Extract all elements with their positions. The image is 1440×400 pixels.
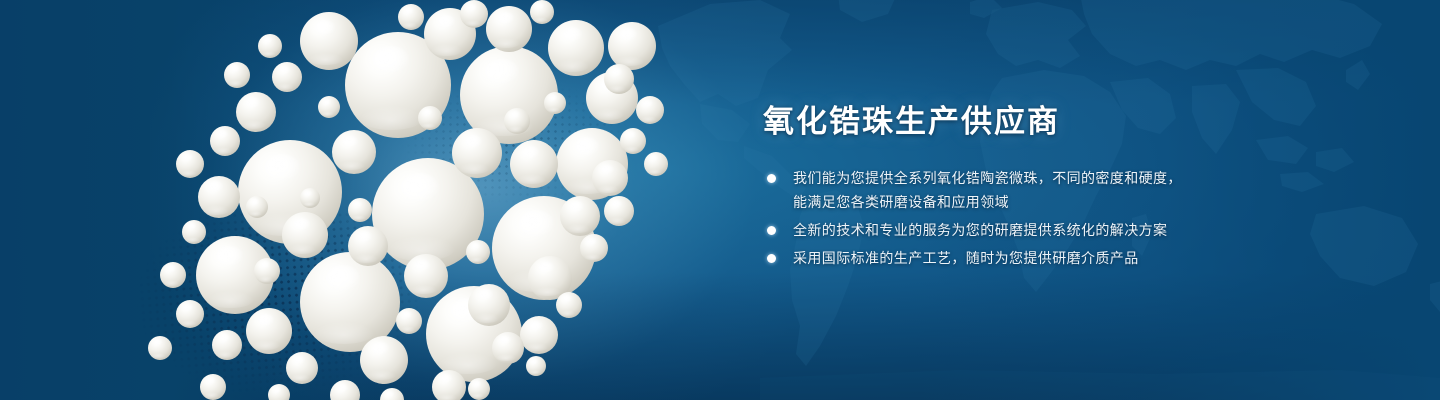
banner-bullet-list: 我们能为您提供全系列氧化锆陶瓷微珠，不同的密度和硬度， 能满足您各类研磨设备和应… <box>763 166 1403 270</box>
banner-headline: 氧化锆珠生产供应商 <box>763 104 1403 141</box>
list-item: 我们能为您提供全系列氧化锆陶瓷微珠，不同的密度和硬度， 能满足您各类研磨设备和应… <box>763 166 1403 214</box>
bullet-dot-icon <box>767 174 776 183</box>
bullet-dot-icon <box>767 226 776 235</box>
hero-banner: 氧化锆珠生产供应商 我们能为您提供全系列氧化锆陶瓷微珠，不同的密度和硬度， 能满… <box>0 0 1440 400</box>
banner-copy: 氧化锆珠生产供应商 我们能为您提供全系列氧化锆陶瓷微珠，不同的密度和硬度， 能满… <box>763 104 1403 274</box>
bullet-line-1: 采用国际标准的生产工艺，随时为您提供研磨介质产品 <box>793 250 1139 266</box>
list-item: 全新的技术和专业的服务为您的研磨提供系统化的解决方案 <box>763 218 1403 242</box>
list-item: 采用国际标准的生产工艺，随时为您提供研磨介质产品 <box>763 246 1403 270</box>
halftone-texture-upper <box>300 0 660 220</box>
bullet-line-1: 全新的技术和专业的服务为您的研磨提供系统化的解决方案 <box>793 222 1167 238</box>
bullet-dot-icon <box>767 254 776 263</box>
bullet-line-1: 我们能为您提供全系列氧化锆陶瓷微珠，不同的密度和硬度， <box>793 170 1182 186</box>
bullet-line-2: 能满足您各类研磨设备和应用领域 <box>793 190 1403 214</box>
